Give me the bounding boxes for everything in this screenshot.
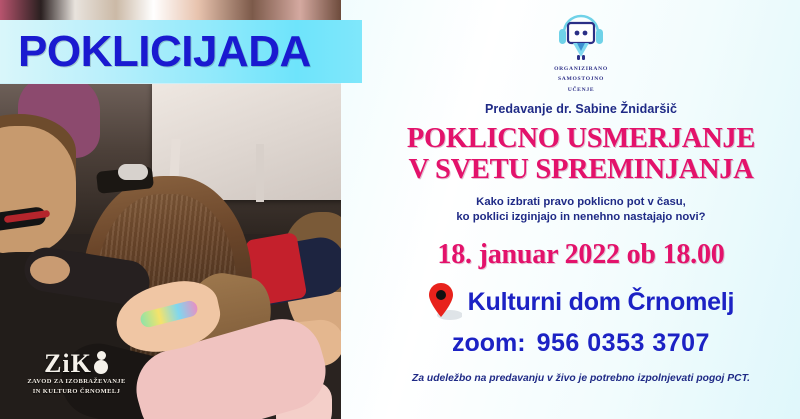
event-headline: POKLICNO USMERJANJE V SVETU SPREMINJANJA xyxy=(407,124,755,185)
zoom-meeting-id: 956 0353 3707 xyxy=(537,329,710,358)
photo-top-strip xyxy=(0,0,341,21)
banner-title: POKLICIJADA xyxy=(0,30,311,74)
map-pin-icon xyxy=(428,282,462,324)
zik-subtitle-line1: ZAVOD ZA IZOBRAŽEVANJE xyxy=(24,378,129,387)
event-poster: ZiK ZAVOD ZA IZOBRAŽEVANJE IN KULTURO ČR… xyxy=(0,0,800,419)
headline-line-1: POKLICNO USMERJANJE xyxy=(407,124,755,154)
zik-subtitle-line2: IN KULTURO ČRNOMELJ xyxy=(24,388,129,397)
subtitle-line-1: Kako izbrati pravo poklicno pot v času, xyxy=(456,195,705,210)
photo-strip-decoration xyxy=(0,0,341,21)
event-datetime: 18. januar 2022 ob 18.00 xyxy=(437,239,724,271)
zik-logo: ZiK ZAVOD ZA IZOBRAŽEVANJE IN KULTURO ČR… xyxy=(24,351,129,397)
venue-row: Kulturni dom Črnomelj xyxy=(428,282,735,324)
poster-content: ORGANIZIRANO SAMOSTOJNO UČENJE Predavanj… xyxy=(362,0,800,419)
speaker-line: Predavanje dr. Sabine Žnidaršič xyxy=(485,102,677,116)
subtitle-line-2: ko poklici izginjajo in nenehno nastajaj… xyxy=(456,210,705,225)
organization-logo: ORGANIZIRANO SAMOSTOJNO UČENJE xyxy=(533,7,629,94)
poklicijada-banner: POKLICIJADA xyxy=(0,20,362,83)
headline-line-2: V SVETU SPREMINJANJA xyxy=(407,155,755,185)
owl-with-headphones-icon xyxy=(551,7,611,63)
logo-caption-line3: UČENJE xyxy=(533,86,629,94)
zik-wordmark: ZiK xyxy=(44,351,92,377)
logo-caption-line2: SAMOSTOJNO xyxy=(533,75,629,83)
zik-dots-icon xyxy=(93,351,109,377)
zoom-label: zoom: xyxy=(452,329,526,358)
venue-name: Kulturni dom Črnomelj xyxy=(468,288,735,317)
logo-caption-line1: ORGANIZIRANO xyxy=(533,65,629,73)
event-subtitle: Kako izbrati pravo poklicno pot v času, … xyxy=(456,195,705,226)
workshop-photo: ZiK ZAVOD ZA IZOBRAŽEVANJE IN KULTURO ČR… xyxy=(0,84,341,419)
pct-footnote: Za udeležbo na predavanju v živo je potr… xyxy=(412,373,750,384)
zoom-row: zoom: 956 0353 3707 xyxy=(452,329,710,358)
